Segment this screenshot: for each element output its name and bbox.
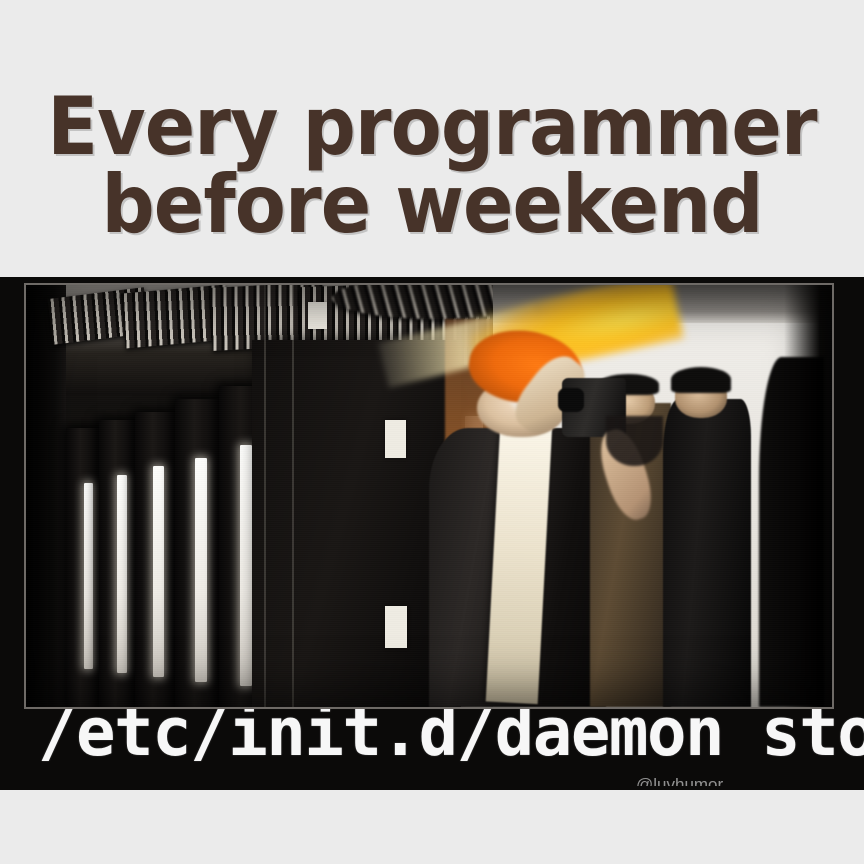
server-room-left-wall	[26, 285, 66, 707]
top-caption-line-2: before weekend	[30, 166, 834, 244]
cabinet-label	[308, 302, 327, 329]
top-caption: Every programmer before weekend	[0, 88, 864, 245]
photo-block: /etc/init.d/daemon stop @luvhumor	[0, 277, 864, 790]
rack-light-strip	[153, 466, 163, 677]
cabinet-label	[385, 420, 406, 458]
cabinet-seam	[264, 285, 266, 707]
far-right-figure	[759, 357, 823, 707]
watermark-text: @luvhumor	[636, 775, 723, 786]
rack-light-strip	[84, 483, 93, 669]
photo-frame	[24, 283, 834, 709]
camera-lens-icon	[558, 388, 584, 411]
rack-light-strip	[117, 475, 127, 673]
photograph	[26, 285, 832, 707]
man-in-suit-hair	[671, 367, 731, 392]
top-caption-line-1: Every programmer	[30, 88, 834, 166]
terminal-command-text: /etc/init.d/daemon stop	[38, 709, 864, 766]
bottom-caption: /etc/init.d/daemon stop @luvhumor	[0, 709, 864, 790]
meme-image: Every programmer before weekend	[0, 0, 864, 864]
rack-light-strip	[240, 445, 253, 686]
rack-light-strip	[195, 458, 206, 682]
bearded-man-beard	[606, 416, 662, 467]
cabinet-seam	[292, 285, 294, 707]
man-in-suit-body	[663, 399, 752, 707]
cabinet-label	[385, 606, 408, 648]
